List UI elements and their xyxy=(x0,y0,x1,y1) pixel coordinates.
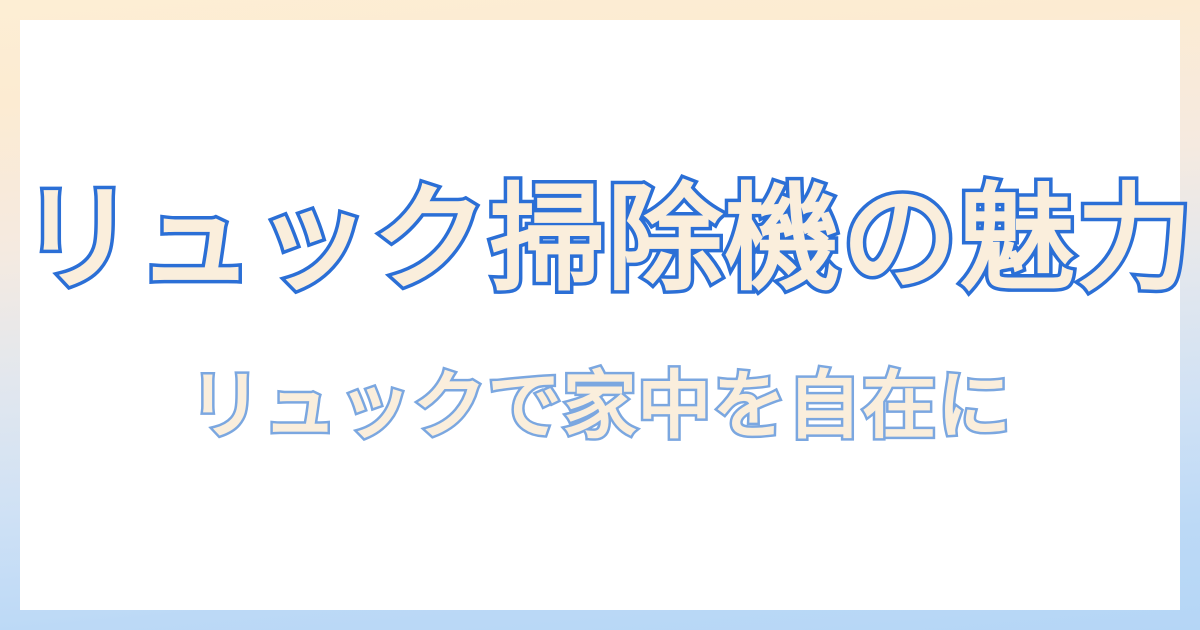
banner-text-stack: リュック掃除機の魅力 リュック掃除機の魅力 リュックで家中を自在に リュックで家… xyxy=(20,160,1180,458)
banner-inner-card: リュック掃除機の魅力 リュック掃除機の魅力 リュックで家中を自在に リュックで家… xyxy=(20,20,1180,610)
banner-subtitle: リュックで家中を自在に リュックで家中を自在に xyxy=(20,354,1180,458)
banner-subtitle-text: リュックで家中を自在に xyxy=(20,354,1180,458)
banner-title-text: リュック掃除機の魅力 xyxy=(20,160,1180,320)
banner-title: リュック掃除機の魅力 リュック掃除機の魅力 xyxy=(20,160,1180,320)
banner-canvas: リュック掃除機の魅力 リュック掃除機の魅力 リュックで家中を自在に リュックで家… xyxy=(0,0,1200,630)
